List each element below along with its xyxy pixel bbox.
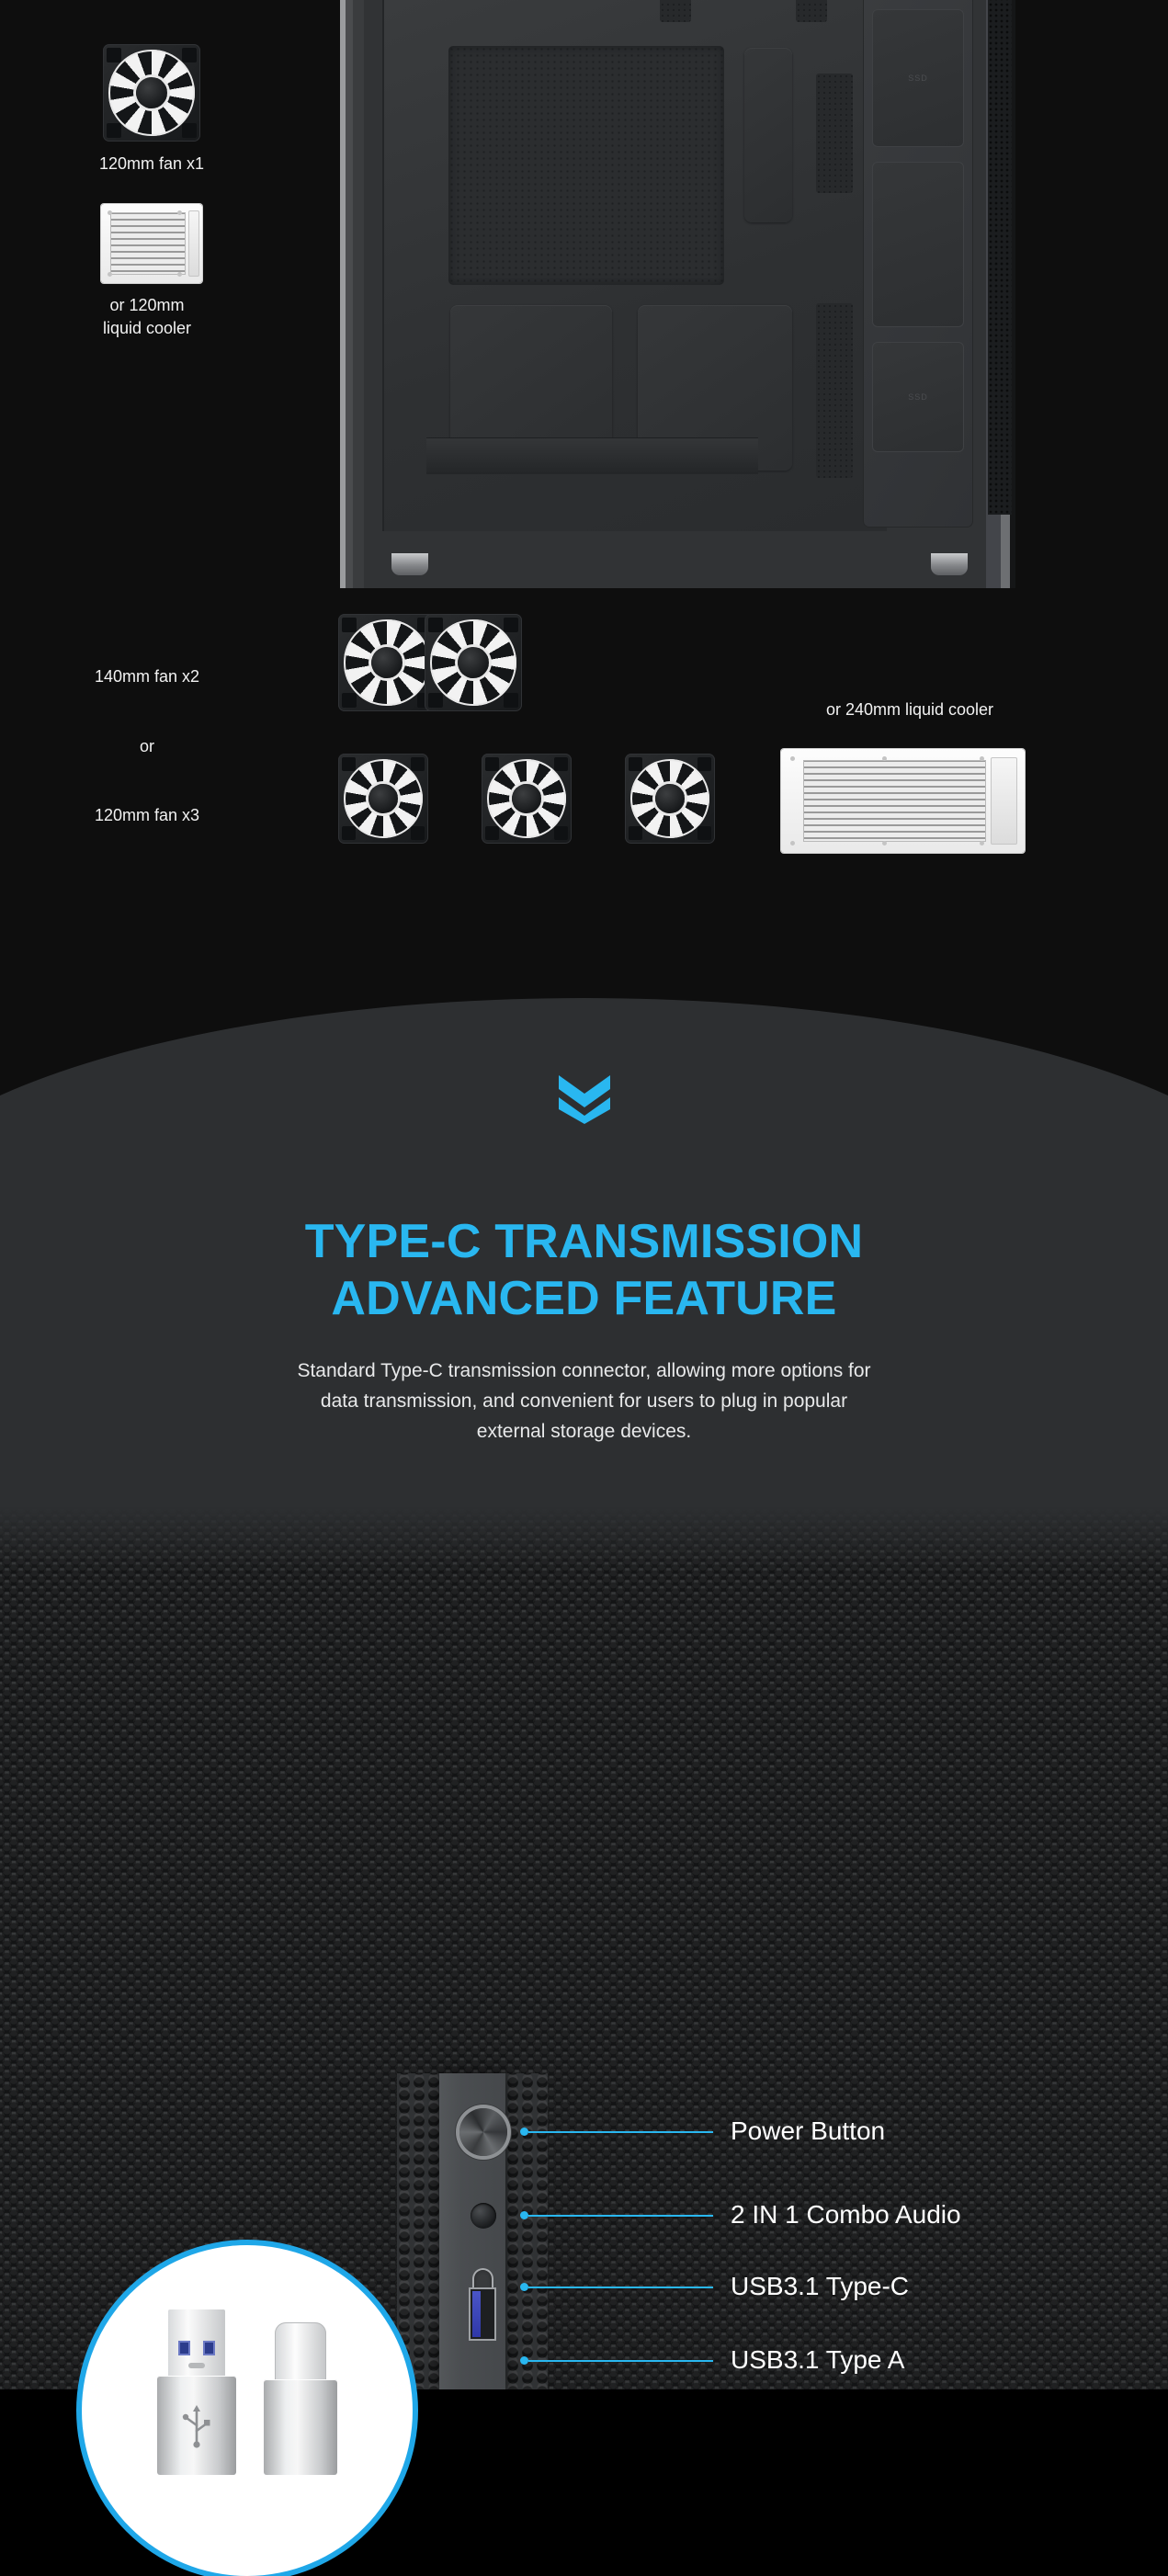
callout-dot-power-button <box>520 2128 528 2136</box>
ssd-bracket-2 <box>872 162 964 327</box>
usb-type-a-plug <box>157 2309 236 2475</box>
io-mesh-left <box>397 2073 439 2389</box>
case-foot-left <box>391 553 428 575</box>
label-120mm-fan-x1: 120mm fan x1 <box>0 153 303 176</box>
io-mesh-right <box>505 2073 548 2389</box>
usb-type-c-plug <box>264 2322 337 2475</box>
case-fan-icon-140-1 <box>338 614 436 711</box>
callout-line-usb-type-c <box>528 2287 713 2288</box>
usb-type-a-port-icon[interactable] <box>469 2287 496 2341</box>
callout-line-combo-audio <box>528 2215 713 2217</box>
label-line-2: liquid cooler <box>103 319 191 337</box>
heading-line-2: ADVANCED FEATURE <box>0 1270 1168 1327</box>
case-fan-icon-120-3 <box>625 754 715 844</box>
cable-vent-lower <box>816 303 853 478</box>
heading-line-1: TYPE-C TRANSMISSION <box>0 1213 1168 1270</box>
typec-feature-section: TYPE-C TRANSMISSION ADVANCED FEATURE Sta… <box>0 1112 1168 2389</box>
power-button-icon[interactable] <box>459 2108 507 2156</box>
audio-jack-icon[interactable] <box>471 2203 496 2229</box>
tray-cutout-panel <box>744 48 792 222</box>
radiator-icon-240mm <box>781 749 1025 853</box>
usb-trident-icon <box>178 2401 215 2449</box>
psu-shroud <box>426 437 758 474</box>
motherboard-tray-mesh <box>448 46 724 285</box>
usb-connectors-photo <box>82 2245 413 2576</box>
callout-label-power-button: Power Button <box>731 2116 885 2147</box>
cable-vent-upper <box>816 74 853 193</box>
case-fan-icon-140-2 <box>425 614 522 711</box>
label-or-separator: or <box>0 735 294 758</box>
radiator-icon-120mm <box>101 204 202 283</box>
label-240mm-liquid-cooler: or 240mm liquid cooler <box>726 698 1094 721</box>
drive-cage: SSD SSD <box>863 0 973 528</box>
callout-dot-usb-type-c <box>520 2283 528 2291</box>
typec-heading: TYPE-C TRANSMISSION ADVANCED FEATURE <box>0 1213 1168 1327</box>
case-interior <box>382 0 887 531</box>
ssd-bracket-3: SSD <box>872 342 964 452</box>
case-foot-right <box>931 553 968 575</box>
callout-label-usb-type-c: USB3.1 Type-C <box>731 2271 909 2302</box>
label-120mm-liquid-cooler: or 120mm liquid cooler <box>0 294 294 340</box>
callout-dot-usb-type-a <box>520 2356 528 2365</box>
label-140mm-fan-x2: 140mm fan x2 <box>0 665 294 688</box>
typec-description: Standard Type-C transmission connector, … <box>290 1356 879 1447</box>
pc-case-interior-photo: SSD SSD <box>340 0 1015 588</box>
side-panel-mesh <box>988 0 1012 515</box>
callout-line-usb-type-a <box>528 2360 713 2362</box>
callout-line-power-button <box>528 2131 713 2133</box>
callout-label-combo-audio: 2 IN 1 Combo Audio <box>731 2199 961 2230</box>
case-fan-icon-120-1 <box>338 754 428 844</box>
case-fan-icon-top <box>103 44 200 142</box>
cooling-support-section: SSD SSD 120mm fan x1 or 120mm liquid coo… <box>0 0 1168 1112</box>
double-chevron-down-icon <box>557 1073 612 1125</box>
ssd-bracket-1: SSD <box>872 9 964 147</box>
top-vent-2 <box>796 0 827 22</box>
case-fan-icon-120-2 <box>482 754 572 844</box>
callout-label-usb-type-a: USB3.1 Type A <box>731 2344 904 2376</box>
label-120mm-fan-x3: 120mm fan x3 <box>0 804 294 827</box>
perforated-mesh-background <box>0 1507 1168 2389</box>
label-line-1: or 120mm <box>109 296 184 314</box>
top-vent-1 <box>660 0 691 22</box>
callout-dot-combo-audio <box>520 2211 528 2219</box>
